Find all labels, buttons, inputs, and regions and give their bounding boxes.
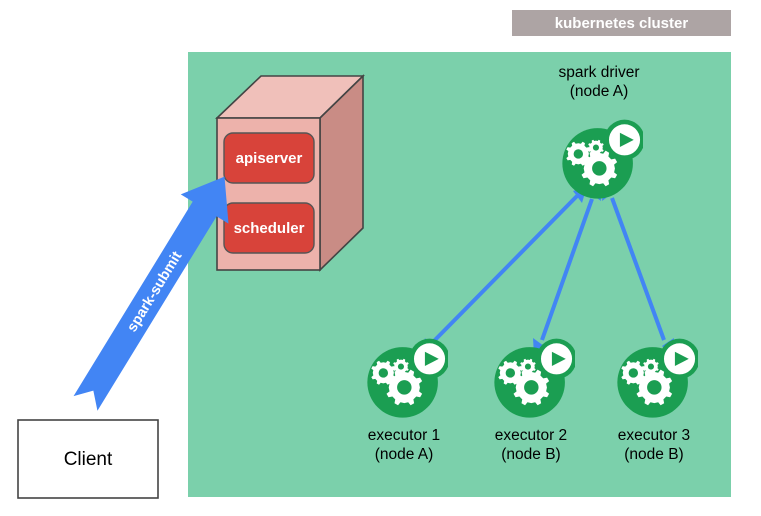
diagram-svg: kubernetes cluster apiserver scheduler bbox=[0, 0, 761, 516]
cluster-tag: kubernetes cluster bbox=[512, 10, 731, 36]
cluster-tag-label: kubernetes cluster bbox=[555, 15, 689, 32]
diagram-canvas: kubernetes cluster apiserver scheduler bbox=[0, 0, 761, 516]
control-plane-cube: apiserver scheduler bbox=[217, 76, 363, 270]
scheduler-label: scheduler bbox=[234, 220, 305, 237]
client-box[interactable]: Client bbox=[18, 420, 158, 498]
client-label: Client bbox=[64, 449, 113, 470]
control-plane-component-scheduler[interactable]: scheduler bbox=[224, 203, 314, 253]
control-plane-component-apiserver[interactable]: apiserver bbox=[224, 133, 314, 183]
apiserver-label: apiserver bbox=[236, 150, 303, 167]
